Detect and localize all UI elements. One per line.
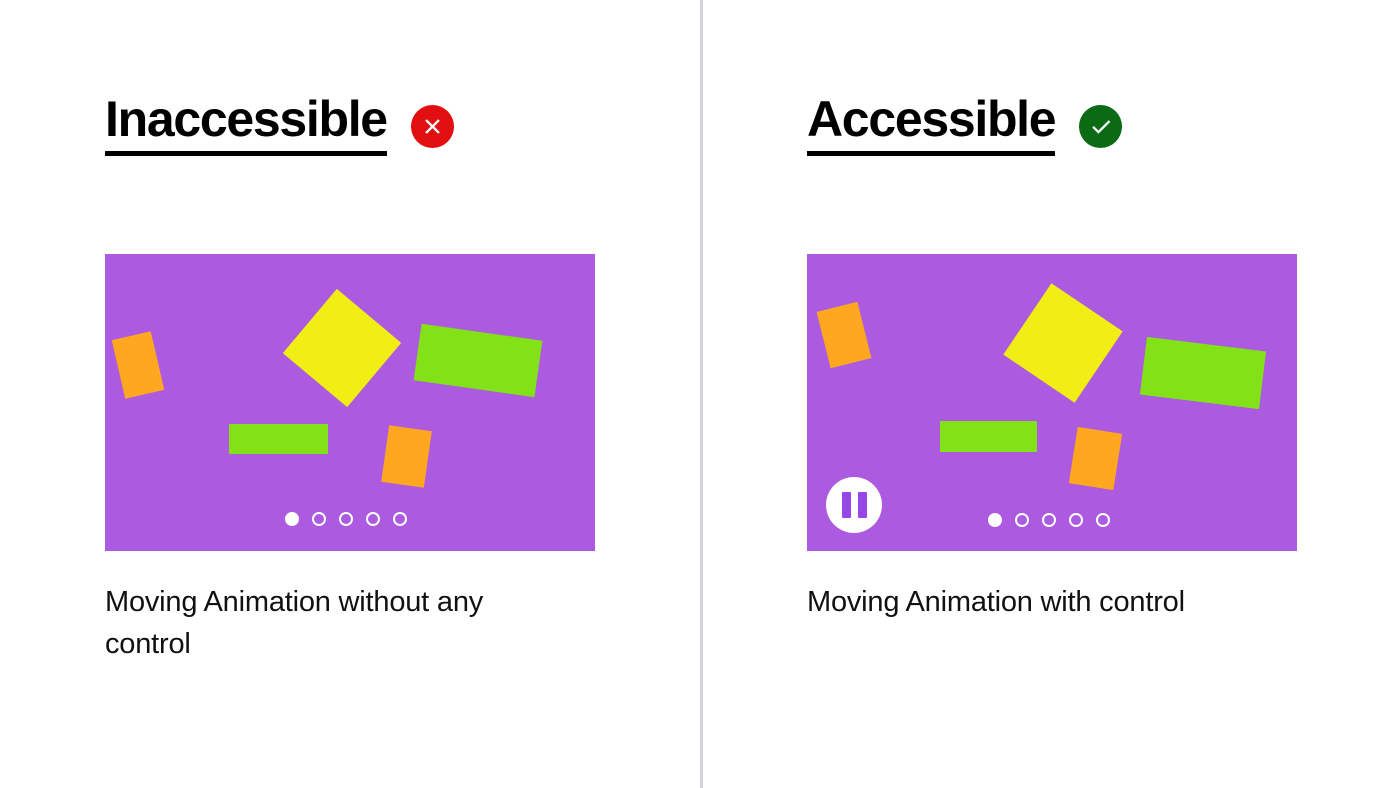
accessible-heading-row: Accessible [807,94,1122,156]
orange-rectangle-shape [817,302,872,368]
comparison-figure: Inaccessible Moving Animation without an… [0,0,1400,788]
green-rectangle-shape [414,324,543,397]
carousel-dot-1[interactable] [988,513,1002,527]
carousel-dots-accessible[interactable] [988,513,1110,527]
caption-accessible: Moving Animation with control [807,581,1347,623]
orange-rectangle-shape [1069,427,1122,490]
carousel-dot-5[interactable] [393,512,407,526]
green-bar-shape [229,424,328,454]
yellow-square-shape [283,289,401,407]
carousel-dot-2[interactable] [312,512,326,526]
animation-panel-inaccessible [105,254,595,551]
accessible-column: Accessible [703,0,1400,788]
green-rectangle-shape [1140,337,1266,409]
pause-button[interactable] [826,477,882,533]
orange-rectangle-shape [112,331,164,398]
carousel-dot-4[interactable] [1069,513,1083,527]
page-title-accessible: Accessible [807,94,1055,156]
carousel-dot-5[interactable] [1096,513,1110,527]
inaccessible-heading-row: Inaccessible [105,94,454,156]
yellow-square-shape [1003,283,1122,402]
carousel-dot-1[interactable] [285,512,299,526]
inaccessible-column: Inaccessible Moving Animation without an… [0,0,700,788]
carousel-dot-4[interactable] [366,512,380,526]
carousel-dots-inaccessible[interactable] [285,512,407,526]
carousel-dot-2[interactable] [1015,513,1029,527]
pause-icon-bar-left [842,492,851,518]
check-circle-icon [1079,105,1122,148]
page-title-inaccessible: Inaccessible [105,94,387,156]
green-bar-shape [940,421,1037,452]
orange-rectangle-shape [381,425,432,487]
carousel-dot-3[interactable] [339,512,353,526]
pause-icon-bar-right [858,492,867,518]
cross-circle-icon [411,105,454,148]
animation-panel-accessible [807,254,1297,551]
caption-inaccessible: Moving Animation without any control [105,581,575,665]
carousel-dot-3[interactable] [1042,513,1056,527]
